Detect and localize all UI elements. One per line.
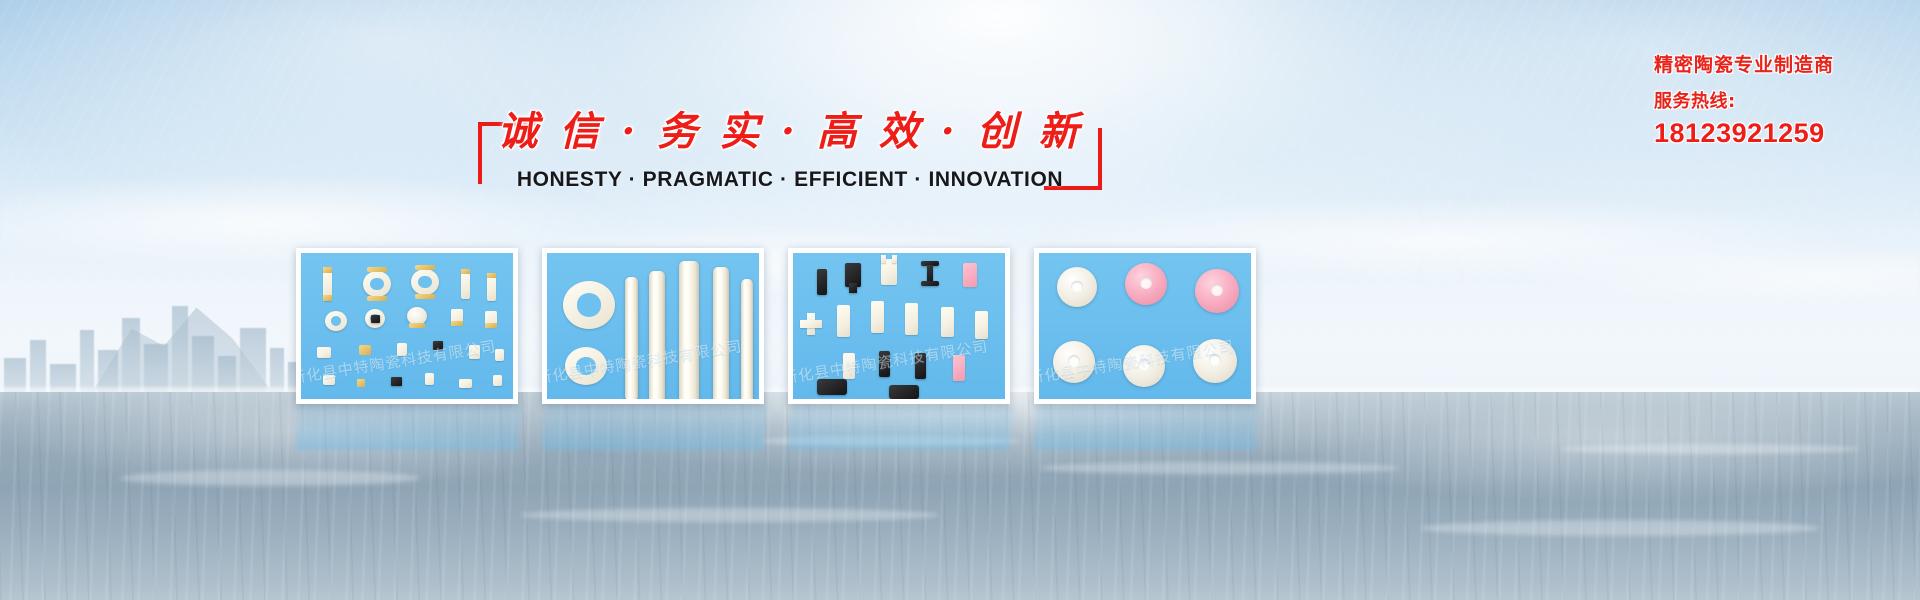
slogan-block: 诚 信 · 务 实 · 高 效 · 创 新 HONESTY · PRAGMATI…: [470, 104, 1110, 208]
hotline-label: 服务热线:: [1654, 90, 1886, 114]
product-panel-ceramic-tubes-rings[interactable]: 新化县中特陶瓷科技有限公司: [542, 248, 764, 404]
product-panel-ceramic-blocks[interactable]: 新化县中特陶瓷科技有限公司: [788, 248, 1010, 404]
hero-banner: 诚 信 · 务 实 · 高 效 · 创 新 HONESTY · PRAGMATI…: [0, 0, 1920, 600]
panel-image: 新化县中特陶瓷科技有限公司: [547, 253, 759, 399]
panel-reflection: [296, 404, 518, 450]
water-ripple: [1040, 462, 1400, 474]
product-panel-wrap: 新化县中特陶瓷科技有限公司: [788, 248, 1010, 404]
panel-image: 新化县中特陶瓷科技有限公司: [793, 253, 1005, 399]
product-panel-row: 新化县中特陶瓷科技有限公司 新化县中特陶瓷科技有限公司: [296, 248, 1256, 404]
product-panel-wrap: 新化县中特陶瓷科技有限公司: [296, 248, 518, 404]
panel-reflection: [1034, 404, 1256, 450]
slogan-chinese: 诚 信 · 务 实 · 高 效 · 创 新: [470, 104, 1110, 160]
product-panel-wrap: 新化县中特陶瓷科技有限公司: [1034, 248, 1256, 404]
panel-reflection: [542, 404, 764, 450]
water-ripple: [120, 470, 420, 486]
company-tagline: 精密陶瓷专业制造商: [1654, 52, 1886, 78]
product-panel-ceramic-discs[interactable]: 新化县中特陶瓷科技有限公司: [1034, 248, 1256, 404]
water-ripple: [520, 508, 940, 522]
panel-image: 新化县中特陶瓷科技有限公司: [1039, 253, 1251, 399]
hotline-phone[interactable]: 18123921259: [1654, 117, 1886, 149]
panel-image: 新化县中特陶瓷科技有限公司: [301, 253, 513, 399]
product-panel-wrap: 新化县中特陶瓷科技有限公司: [542, 248, 764, 404]
slogan-english: HONESTY · PRAGMATIC · EFFICIENT · INNOVA…: [470, 168, 1110, 192]
contact-block: 精密陶瓷专业制造商 服务热线: 18123921259: [1654, 52, 1886, 149]
water-ripple: [1420, 520, 1820, 536]
panel-reflection: [788, 404, 1010, 450]
product-panel-chip-components[interactable]: 新化县中特陶瓷科技有限公司: [296, 248, 518, 404]
water-ripple: [1560, 444, 1860, 454]
